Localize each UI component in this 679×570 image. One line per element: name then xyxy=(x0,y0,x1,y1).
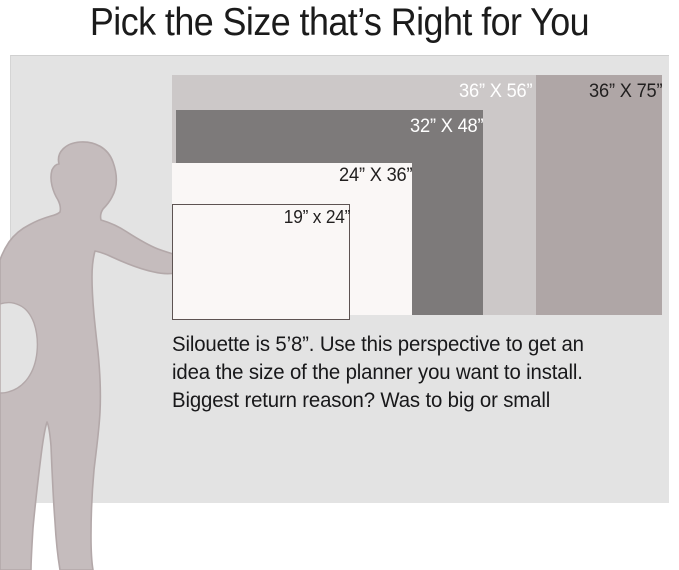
size-label-24x36: 24” X 36” xyxy=(339,165,412,187)
description-text: Silouette is 5’8”. Use this perspective … xyxy=(172,331,647,415)
size-label-32x48: 32” X 48” xyxy=(410,116,483,138)
size-rect-36x75 xyxy=(536,75,662,315)
page-title: Pick the Size that’s Right for You xyxy=(27,1,652,45)
size-label-36x75: 36” X 75” xyxy=(589,81,662,103)
title-bar: Pick the Size that’s Right for You xyxy=(0,0,679,52)
description-line-2: idea the size of the planner you want to… xyxy=(172,359,647,387)
description-line-1: Silouette is 5’8”. Use this perspective … xyxy=(172,331,647,359)
description-line-3: Biggest return reason? Was to big or sma… xyxy=(172,387,647,415)
size-comparison-infographic: Pick the Size that’s Right for You 36” X… xyxy=(0,0,679,570)
size-label-36x56: 36” X 56” xyxy=(459,81,532,103)
size-label-19x24: 19” x 24” xyxy=(284,207,350,228)
